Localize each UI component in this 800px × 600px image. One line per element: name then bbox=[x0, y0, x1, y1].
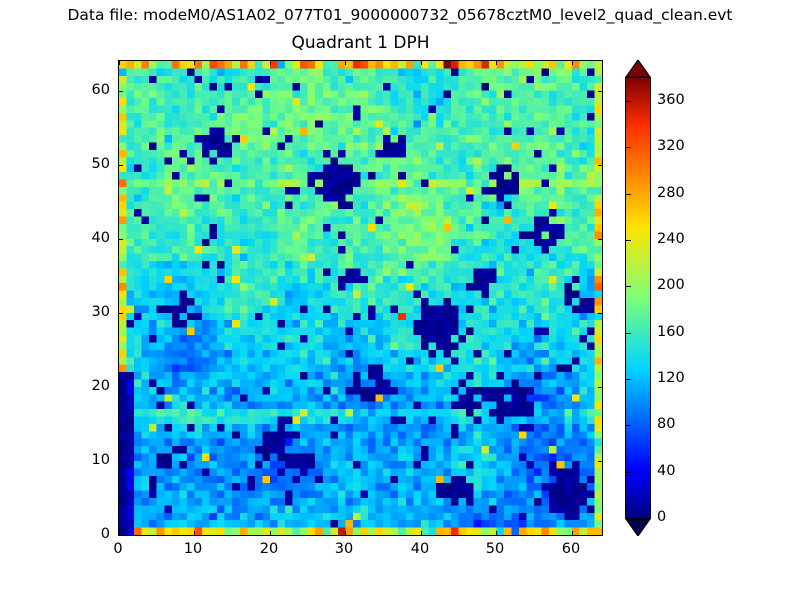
colorbar-tick bbox=[626, 472, 631, 473]
x-tick bbox=[270, 531, 271, 535]
x-tick bbox=[572, 531, 573, 535]
x-tick bbox=[119, 61, 120, 65]
y-tick bbox=[598, 91, 602, 92]
colorbar-tick bbox=[626, 286, 631, 287]
colorbar-tick bbox=[626, 194, 631, 195]
colorbar-ticklabel: 320 bbox=[657, 138, 685, 154]
x-tick bbox=[270, 61, 271, 65]
x-tick bbox=[345, 531, 346, 535]
heatmap-axes[interactable] bbox=[118, 60, 603, 536]
x-ticklabel: 60 bbox=[562, 541, 580, 557]
y-tick bbox=[598, 313, 602, 314]
x-tick bbox=[496, 61, 497, 65]
x-tick bbox=[345, 61, 346, 65]
colorbar-tick bbox=[626, 101, 631, 102]
y-tick bbox=[119, 239, 123, 240]
colorbar-ticklabel: 200 bbox=[657, 277, 685, 293]
x-ticklabel: 40 bbox=[411, 541, 429, 557]
colorbar-tick bbox=[626, 333, 631, 334]
x-tick bbox=[194, 531, 195, 535]
colorbar-tick bbox=[626, 379, 631, 380]
y-tick bbox=[598, 239, 602, 240]
x-ticklabel: 10 bbox=[184, 541, 202, 557]
colorbar-ticklabel: 40 bbox=[657, 463, 675, 479]
x-ticklabel: 50 bbox=[486, 541, 504, 557]
colorbar-ticklabel: 280 bbox=[657, 185, 685, 201]
y-tick bbox=[119, 313, 123, 314]
colorbar[interactable]: 04080120160200240280320360 bbox=[625, 60, 651, 536]
y-tick bbox=[119, 165, 123, 166]
figure-suptitle: Data file: modeM0/AS1A02_077T01_90000007… bbox=[0, 6, 800, 24]
y-tick bbox=[119, 91, 123, 92]
y-ticklabel: 40 bbox=[92, 230, 110, 246]
colorbar-tick bbox=[626, 240, 631, 241]
y-tick bbox=[598, 535, 602, 536]
x-ticklabel: 0 bbox=[113, 541, 122, 557]
y-tick bbox=[598, 387, 602, 388]
colorbar-ticklabel: 120 bbox=[657, 370, 685, 386]
y-tick bbox=[598, 165, 602, 166]
y-ticklabel: 50 bbox=[92, 156, 110, 172]
colorbar-extend-max-arrow bbox=[625, 60, 651, 78]
colorbar-tick bbox=[626, 147, 631, 148]
x-tick bbox=[496, 531, 497, 535]
axes-title: Quadrant 1 DPH bbox=[118, 33, 603, 53]
y-tick bbox=[119, 387, 123, 388]
x-ticklabel: 30 bbox=[335, 541, 353, 557]
x-tick bbox=[572, 61, 573, 65]
x-tick bbox=[194, 61, 195, 65]
x-ticklabel: 20 bbox=[260, 541, 278, 557]
x-tick bbox=[421, 531, 422, 535]
colorbar-gradient-body bbox=[625, 77, 651, 519]
y-ticklabel: 60 bbox=[92, 82, 110, 98]
y-ticklabel: 0 bbox=[101, 526, 110, 542]
y-axis-ticklabels: 0102030405060 bbox=[60, 0, 110, 600]
colorbar-ticklabel: 80 bbox=[657, 416, 675, 432]
colorbar-tick bbox=[626, 425, 631, 426]
colorbar-gradient bbox=[626, 78, 650, 518]
y-tick bbox=[119, 461, 123, 462]
colorbar-ticklabel: 160 bbox=[657, 324, 685, 340]
colorbar-ticklabel: 0 bbox=[657, 509, 666, 525]
y-tick bbox=[119, 535, 123, 536]
x-tick bbox=[421, 61, 422, 65]
y-tick bbox=[598, 461, 602, 462]
figure-canvas: Data file: modeM0/AS1A02_077T01_90000007… bbox=[0, 0, 800, 600]
colorbar-ticklabel: 240 bbox=[657, 231, 685, 247]
y-ticklabel: 20 bbox=[92, 378, 110, 394]
colorbar-extend-min-arrow bbox=[625, 518, 651, 536]
heatmap-image bbox=[119, 61, 602, 535]
y-ticklabel: 10 bbox=[92, 452, 110, 468]
y-ticklabel: 30 bbox=[92, 304, 110, 320]
colorbar-ticklabel: 360 bbox=[657, 92, 685, 108]
